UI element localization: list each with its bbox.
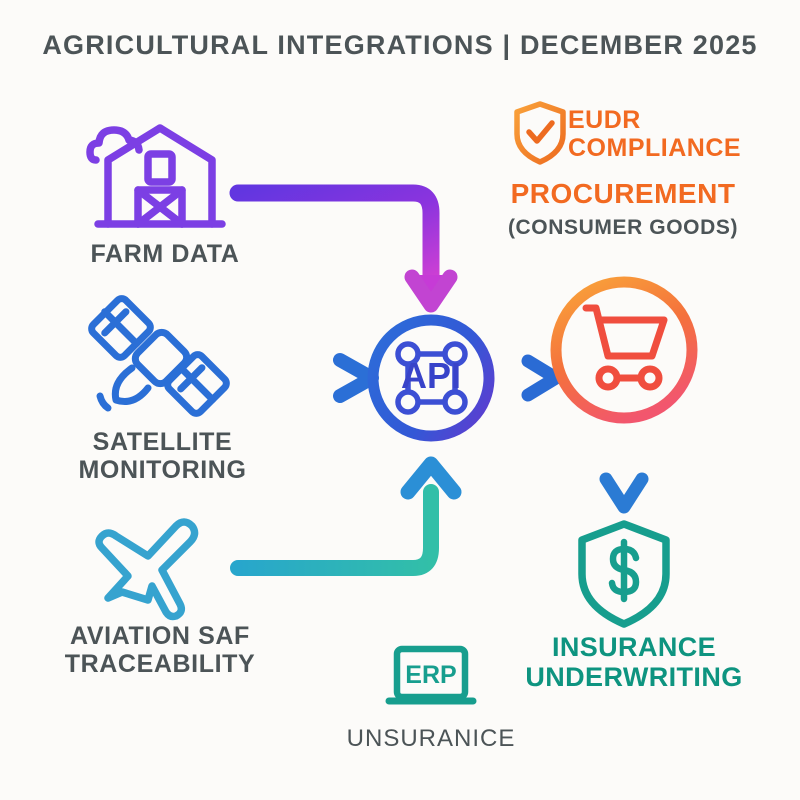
heading-procurement: PROCUREMENT [468, 178, 778, 209]
laptop-icon: ERP [389, 649, 473, 701]
connector-satellite-to-api [238, 360, 372, 396]
airplane-icon [99, 522, 195, 617]
label-erp-system: UNSURANICE [331, 726, 531, 753]
shopping-cart-icon [556, 282, 692, 418]
badge-eudr-compliance: EUDR COMPLIANCE [568, 106, 768, 162]
api-hub-label: API [401, 355, 461, 396]
barn-cloud-icon [90, 128, 222, 224]
api-network-icon: API [373, 320, 489, 436]
connector-erp-to-api [408, 464, 454, 645]
label-aviation-saf: AVIATION SAF TRACEABILITY [20, 622, 300, 678]
connector-aviation-to-api [238, 492, 431, 568]
erp-screen-label: ERP [405, 661, 456, 689]
subheading-procurement: (CONSUMER GOODS) [468, 216, 778, 240]
shield-dollar-icon [582, 524, 666, 624]
connector-api-to-procurement [494, 361, 556, 395]
label-satellite-monitoring: SATELLITE MONITORING [30, 428, 295, 484]
satellite-icon [89, 296, 229, 416]
page-title: AGRICULTURAL INTEGRATIONS | DECEMBER 202… [0, 30, 800, 61]
shield-check-icon [517, 104, 563, 162]
label-insurance-underwriting: INSURANCE UNDERWRITING [494, 632, 774, 692]
label-farm-data: FARM DATA [40, 240, 290, 268]
connector-procurement-to-insurance [606, 432, 642, 507]
